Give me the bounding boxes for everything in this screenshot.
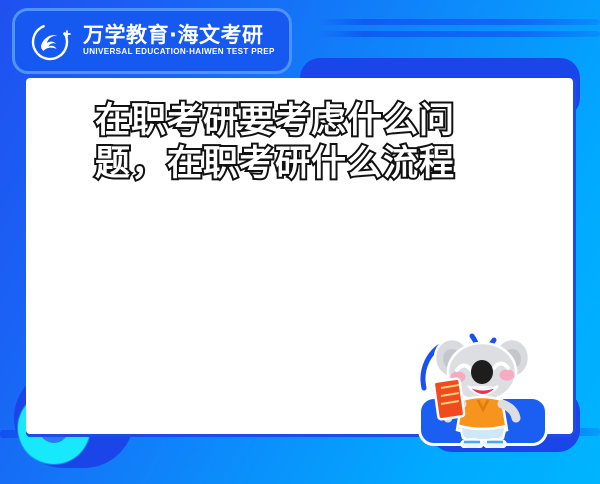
deco-bar-1 (318, 19, 600, 25)
brand-name-en: UNIVERSAL EDUCATION·HAIWEN TEST PREP (83, 46, 275, 58)
book-icon (433, 378, 464, 419)
promo-banner: 万学教育·海文考研 UNIVERSAL EDUCATION·HAIWEN TES… (0, 0, 600, 484)
page-title: 在职考研要考虑什么问题，在职考研什么流程 (60, 100, 490, 187)
deco-bar-2 (318, 31, 600, 37)
brand-logo-badge[interactable]: 万学教育·海文考研 UNIVERSAL EDUCATION·HAIWEN TES… (12, 8, 292, 74)
koala-mascot-icon (410, 328, 560, 448)
brand-name-cn: 万学教育·海文考研 (83, 24, 275, 46)
circular-swoosh-logo-icon (29, 19, 73, 63)
